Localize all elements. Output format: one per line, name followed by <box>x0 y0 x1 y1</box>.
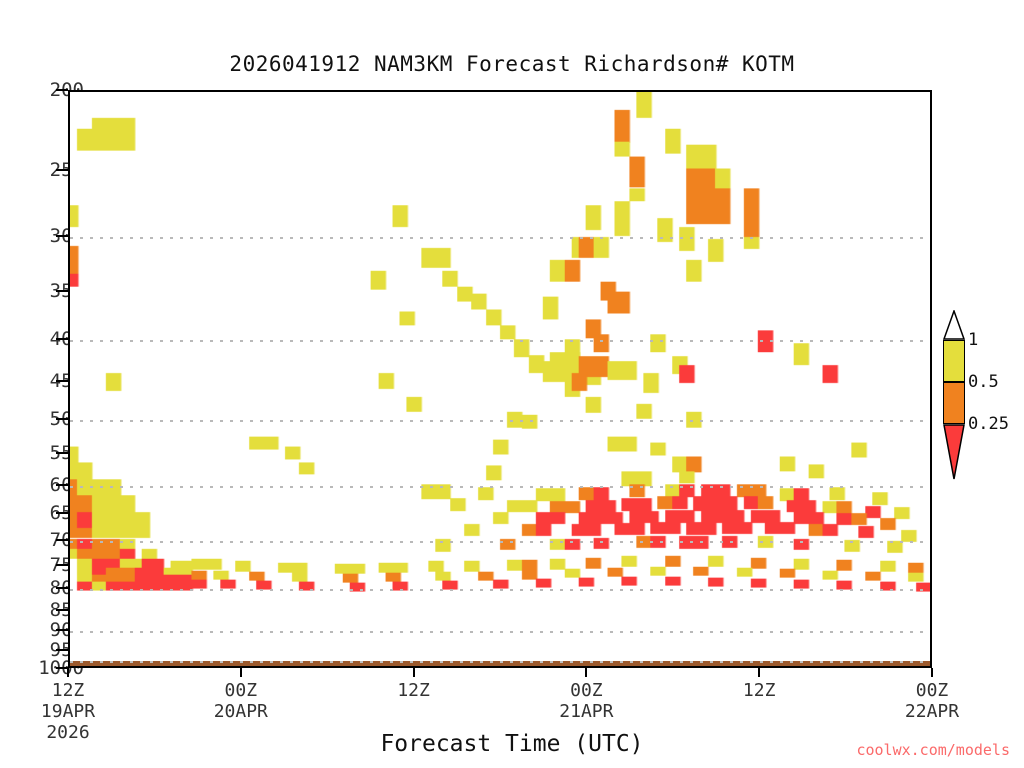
colorbar-tick-label: 0.25 <box>968 414 1009 434</box>
x-axis-tick-line: 00Z <box>214 680 268 701</box>
colorbar-segment <box>943 340 965 382</box>
y-axis-tick-mark <box>56 89 68 91</box>
colorbar-tick-label: 1 <box>968 330 978 350</box>
chart-root: 2026041912 NAM3KM Forecast Richardson# K… <box>0 0 1024 768</box>
colorbar-segment <box>943 382 965 424</box>
ground-dash-line <box>70 661 930 663</box>
y-axis-tick-mark <box>56 169 68 171</box>
x-axis-tick-line: 12Z <box>743 680 776 701</box>
x-axis-tick-line: 21APR <box>559 701 613 722</box>
x-axis-tick-mark <box>758 668 760 677</box>
chart-title: 2026041912 NAM3KM Forecast Richardson# K… <box>0 52 1024 76</box>
x-axis-tick-line: 22APR <box>905 701 959 722</box>
plot-area <box>68 90 932 668</box>
colorbar-tick-label: 0.5 <box>968 372 999 392</box>
x-axis-tick-line: 19APR <box>41 701 95 722</box>
x-axis-tick-label: 00Z22APR <box>905 680 959 722</box>
x-axis-tick-mark <box>67 668 69 677</box>
x-axis-tick-label: 00Z20APR <box>214 680 268 722</box>
y-axis-tick-mark <box>56 418 68 420</box>
y-axis-tick-mark <box>56 564 68 566</box>
y-axis-tick-mark <box>56 380 68 382</box>
terrain-ground-layer <box>70 661 930 666</box>
y-axis-tick-mark <box>56 649 68 651</box>
y-axis-tick-mark <box>56 609 68 611</box>
x-axis-tick-line: 12Z <box>397 680 430 701</box>
heatmap-canvas <box>70 92 930 666</box>
colorbar-legend: 10.50.25 <box>943 310 965 484</box>
x-axis-tick-line: 00Z <box>905 680 959 701</box>
x-axis-tick-mark <box>240 668 242 677</box>
x-axis-tick-line: 20APR <box>214 701 268 722</box>
y-axis-tick-mark <box>56 629 68 631</box>
x-axis-tick-line: 12Z <box>41 680 95 701</box>
y-axis-tick-mark <box>56 539 68 541</box>
y-axis-tick-mark <box>56 587 68 589</box>
y-axis-tick-mark <box>56 452 68 454</box>
y-axis-tick-mark <box>56 512 68 514</box>
x-axis-tick-label: 12Z <box>743 680 776 701</box>
x-axis-tick-mark <box>931 668 933 677</box>
x-axis-tick-label: 12Z <box>397 680 430 701</box>
y-axis-tick-mark <box>56 290 68 292</box>
x-axis-tick-mark <box>585 668 587 677</box>
colorbar-over-arrow-outline <box>943 310 965 340</box>
x-axis-tick-line: 00Z <box>559 680 613 701</box>
y-axis-tick-mark <box>56 338 68 340</box>
colorbar-under-arrow <box>943 424 965 484</box>
y-axis-tick-mark <box>56 484 68 486</box>
watermark: coolwx.com/models <box>856 741 1010 759</box>
x-axis-tick-label: 00Z21APR <box>559 680 613 722</box>
x-axis-tick-mark <box>413 668 415 677</box>
y-axis-tick-mark <box>56 235 68 237</box>
